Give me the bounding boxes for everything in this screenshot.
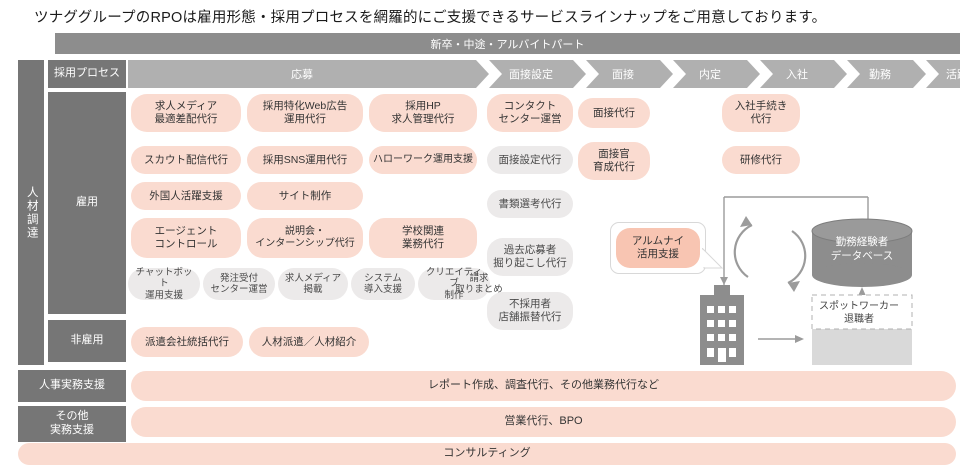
bar-other-practice-support: 営業代行、BPO [131, 407, 956, 437]
connector-arrowhead-right [795, 335, 804, 343]
sidebar-vertical-label-talent-sourcing: 人材調達 [18, 60, 44, 365]
service-pill-recruit-sns: 採用SNS運用代行 [247, 146, 363, 174]
bar-consulting: コンサルティング [18, 443, 956, 465]
bar-hr-practice-support: レポート作成、調査代行、その他業務代行など [131, 371, 956, 401]
sidebar-item-employment: 雇用 [48, 92, 126, 314]
connector-arrowhead-down [720, 277, 728, 285]
service-pill-hello-work-support: ハローワーク運用支援 [369, 146, 477, 174]
service-pill-system-introduction: システム 導入支援 [351, 268, 415, 300]
process-step-working: 勤務 [847, 60, 913, 88]
service-pill-foreign-worker-support: 外国人活躍支援 [131, 182, 241, 210]
process-arrow-row: 応募 面接設定 面接 内定 入社 勤務 活躍 [128, 60, 960, 88]
service-pill-interview-agency: 面接代行 [578, 98, 650, 128]
recycle-arrows-icon [735, 225, 805, 283]
service-pill-agent-control: エージェント コントロール [131, 218, 241, 258]
alumni-database-illustration [600, 185, 960, 365]
service-pill-site-production: サイト制作 [247, 182, 363, 210]
service-pill-joining-procedures: 入社手続き 代行 [722, 94, 800, 132]
rpo-service-lineup-diagram: ツナググループのRPOは雇用形態・採用プロセスを網羅的にご支援できるサービスライ… [0, 0, 960, 467]
service-pill-chatbot-support: チャットボット 運用支援 [128, 268, 200, 300]
page-title: ツナググループのRPOは雇用形態・採用プロセスを網羅的にご支援できるサービスライ… [34, 6, 826, 27]
service-pill-school-related-work: 学校関連 業務代行 [369, 218, 477, 258]
service-pill-staffing-and-placement: 人材派遣／人材紹介 [249, 327, 369, 357]
alumni-callout-bubble: アルムナイ 活用支援 [610, 222, 706, 274]
service-pill-dispatch-company-control: 派遣会社統括代行 [131, 327, 243, 357]
process-step-joining: 入社 [760, 60, 834, 88]
service-pill-contact-center: コンタクト センター運営 [487, 94, 573, 132]
service-pill-job-media-allocation: 求人メディア 最適差配代行 [131, 94, 241, 132]
spot-worker-label: スポットワーカー 退職者 [805, 300, 913, 326]
banner-employment-types: 新卒・中途・アルバイトパート [55, 33, 960, 54]
service-pill-order-reception-center: 発注受付 センター運営 [203, 268, 275, 300]
database-label: 勤務経験者 データベース [812, 236, 912, 263]
service-pill-seminar-internship: 説明会・ インターンシップ代行 [247, 218, 363, 258]
process-step-interview: 面接 [586, 60, 660, 88]
alumni-callout-label: アルムナイ 活用支援 [616, 228, 700, 268]
sidebar-item-recruitment-process: 採用プロセス [48, 60, 126, 88]
office-building-icon [700, 285, 744, 365]
banner-label: 新卒・中途・アルバイトパート [431, 36, 585, 52]
service-pill-recruit-hp-management: 採用HP 求人管理代行 [369, 94, 477, 132]
service-pill-document-screening: 書類選考代行 [487, 190, 573, 218]
service-pill-scout-delivery: スカウト配信代行 [131, 146, 241, 174]
service-pill-job-media-posting: 求人メディア 掲載 [278, 268, 348, 300]
service-pill-rejected-store-transfer: 不採用者 店舗振替代行 [487, 292, 573, 330]
callout-tail-icon [702, 248, 724, 274]
talent-pool-block [812, 327, 912, 365]
process-step-interview-setup: 面接設定 [489, 60, 573, 88]
process-step-thriving: 活躍 [926, 60, 960, 88]
process-step-offer: 内定 [673, 60, 747, 88]
sidebar-item-non-employment: 非雇用 [48, 320, 126, 362]
process-step-application: 応募 [128, 60, 476, 88]
service-pill-web-ad-operation: 採用特化Web広告 運用代行 [247, 94, 363, 132]
service-pill-interviewer-training: 面接官 育成代行 [578, 142, 650, 180]
service-pill-training-agency: 研修代行 [722, 146, 800, 174]
sidebar-item-hr-practice-support: 人事実務支援 [18, 370, 126, 402]
service-pill-interview-setup-agency: 面接設定代行 [487, 146, 573, 174]
sidebar-item-other-practice-support: その他 実務支援 [18, 406, 126, 442]
